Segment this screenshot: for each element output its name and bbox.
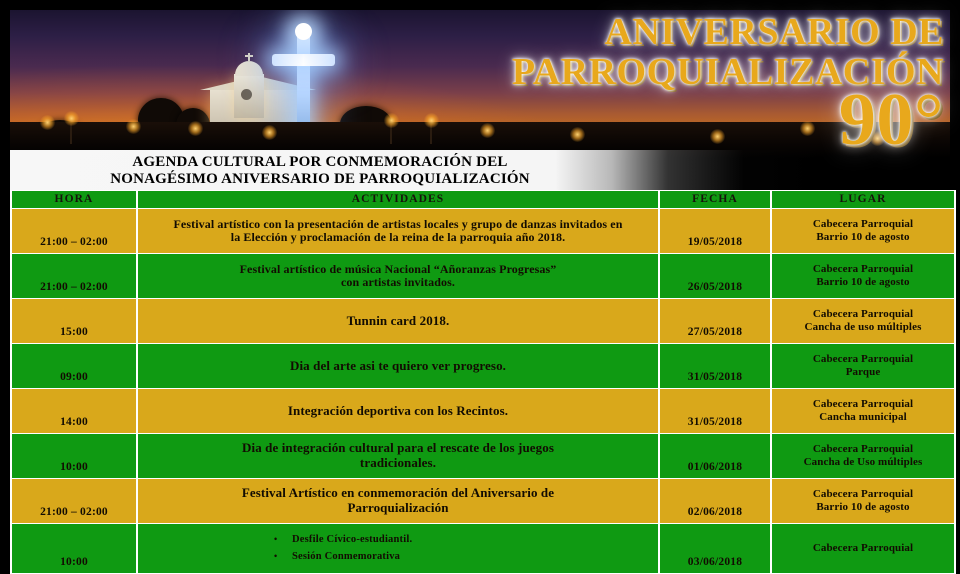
cell-actividad: Festival artístico con la presentación d…: [138, 209, 658, 253]
venue-line: Cabecera Parroquial: [776, 542, 950, 555]
cell-lugar: Cabecera Parroquial: [772, 524, 954, 573]
table-row: 10:00Dia de integración cultural para el…: [12, 434, 954, 478]
activity-line: Festival Artístico en conmemoración del …: [142, 486, 654, 501]
cell-lugar: Cabecera ParroquialBarrio 10 de agosto: [772, 209, 954, 253]
venue-line: Cabecera Parroquial: [776, 398, 950, 411]
activity-line: Tunnin card 2018.: [142, 314, 654, 329]
lamp-glow-icon: [480, 123, 495, 138]
table-row: 21:00 – 02:00Festival artístico con la p…: [12, 209, 954, 253]
cell-fecha: 31/05/2018: [660, 344, 770, 388]
cultural-agenda-table: HORA ACTIVIDADES FECHA LUGAR 21:00 – 02:…: [10, 190, 956, 574]
cell-lugar: Cabecera ParroquialCancha municipal: [772, 389, 954, 433]
table-body: 21:00 – 02:00Festival artístico con la p…: [12, 209, 954, 573]
cell-actividad: Dia de integración cultural para el resc…: [138, 434, 658, 478]
agenda-title-line-2: NONAGÉSIMO ANIVERSARIO DE PARROQUIALIZAC…: [10, 171, 630, 188]
cell-fecha: 31/05/2018: [660, 389, 770, 433]
poster-headline: ANIVERSARIO DE PARROQUIALIZACIÓN 90°: [512, 14, 944, 151]
activity-line: la Elección y proclamación de la reina d…: [142, 231, 654, 244]
agenda-title-band: AGENDA CULTURAL POR CONMEMORACIÓN DEL NO…: [10, 150, 950, 192]
table-row: 21:00 – 02:00Festival artístico de músic…: [12, 254, 954, 298]
activity-line: tradicionales.: [142, 456, 654, 471]
table-row: 14:00Integración deportiva con los Recin…: [12, 389, 954, 433]
activity-bullet-item: Desfile Cívico-estudiantil.: [142, 532, 654, 548]
activity-line: Festival artístico de música Nacional “A…: [142, 263, 654, 276]
headline-line-1: ANIVERSARIO DE: [512, 14, 944, 52]
column-header-lugar: LUGAR: [772, 191, 954, 208]
anniversary-number: 90°: [512, 89, 944, 151]
column-header-fecha: FECHA: [660, 191, 770, 208]
schedule-table-container: HORA ACTIVIDADES FECHA LUGAR 21:00 – 02:…: [10, 190, 950, 528]
table-header-row: HORA ACTIVIDADES FECHA LUGAR: [12, 191, 954, 208]
cell-hora: 10:00: [12, 434, 136, 478]
cell-lugar: Cabecera ParroquialCancha de Uso múltipl…: [772, 434, 954, 478]
venue-line: Cabecera Parroquial: [776, 353, 950, 366]
column-header-hora: HORA: [12, 191, 136, 208]
activity-line: Parroquialización: [142, 501, 654, 516]
event-poster: ANIVERSARIO DE PARROQUIALIZACIÓN 90° AGE…: [0, 0, 960, 540]
page-title: AGENDA CULTURAL POR CONMEMORACIÓN DEL NO…: [10, 154, 630, 189]
cell-actividad: Tunnin card 2018.: [138, 299, 658, 343]
venue-line: Cabecera Parroquial: [776, 308, 950, 321]
lamp-glow-icon: [384, 113, 399, 128]
venue-line: Cancha de uso múltiples: [776, 321, 950, 334]
cell-hora: 21:00 – 02:00: [12, 254, 136, 298]
activity-line: Dia de integración cultural para el resc…: [142, 441, 654, 456]
venue-line: Parque: [776, 366, 950, 379]
cell-hora: 09:00: [12, 344, 136, 388]
column-header-actividades: ACTIVIDADES: [138, 191, 658, 208]
cell-fecha: 27/05/2018: [660, 299, 770, 343]
cell-fecha: 03/06/2018: [660, 524, 770, 573]
cell-actividad: Dia del arte asi te quiero ver progreso.: [138, 344, 658, 388]
cell-hora: 10:00: [12, 524, 136, 573]
activity-line: con artistas invitados.: [142, 276, 654, 289]
venue-line: Barrio 10 de agosto: [776, 231, 950, 244]
street-lamp-icon: [70, 124, 72, 144]
activity-bullet-item: Sesión Conmemorativa: [142, 549, 654, 565]
cell-fecha: 02/06/2018: [660, 479, 770, 523]
venue-line: Cancha de Uso múltiples: [776, 456, 950, 469]
table-row: 09:00Dia del arte asi te quiero ver prog…: [12, 344, 954, 388]
cell-lugar: Cabecera ParroquialParque: [772, 344, 954, 388]
lamp-glow-icon: [126, 119, 141, 134]
activity-line: Integración deportiva con los Recintos.: [142, 404, 654, 419]
table-row: 21:00 – 02:00Festival Artístico en conme…: [12, 479, 954, 523]
venue-line: Barrio 10 de agosto: [776, 501, 950, 514]
cell-lugar: Cabecera ParroquialBarrio 10 de agosto: [772, 254, 954, 298]
lamp-glow-icon: [40, 115, 55, 130]
lamp-glow-icon: [262, 125, 277, 140]
illuminated-cross-arm: [272, 54, 335, 66]
cell-fecha: 26/05/2018: [660, 254, 770, 298]
venue-line: Cabecera Parroquial: [776, 263, 950, 276]
cross-light-orb-icon: [295, 23, 312, 40]
cell-actividad: Festival Artístico en conmemoración del …: [138, 479, 658, 523]
cell-actividad: Festival artístico de música Nacional “A…: [138, 254, 658, 298]
agenda-title-line-1: AGENDA CULTURAL POR CONMEMORACIÓN DEL: [10, 154, 630, 171]
cell-hora: 15:00: [12, 299, 136, 343]
cell-actividad: Integración deportiva con los Recintos.: [138, 389, 658, 433]
venue-line: Cabecera Parroquial: [776, 488, 950, 501]
cell-hora: 14:00: [12, 389, 136, 433]
cell-lugar: Cabecera ParroquialCancha de uso múltipl…: [772, 299, 954, 343]
cell-fecha: 19/05/2018: [660, 209, 770, 253]
cell-hora: 21:00 – 02:00: [12, 209, 136, 253]
cell-actividad: Desfile Cívico-estudiantil.Sesión Conmem…: [138, 524, 658, 573]
steeple-cross-icon: [248, 53, 250, 62]
table-row: 10:00Desfile Cívico-estudiantil.Sesión C…: [12, 524, 954, 573]
lamp-glow-icon: [424, 113, 439, 128]
venue-line: Cabecera Parroquial: [776, 218, 950, 231]
cell-hora: 21:00 – 02:00: [12, 479, 136, 523]
activity-line: Festival artístico con la presentación d…: [142, 218, 654, 231]
belfry-window-icon: [241, 89, 252, 100]
lamp-glow-icon: [188, 121, 203, 136]
table-row: 15:00Tunnin card 2018.27/05/2018Cabecera…: [12, 299, 954, 343]
cell-lugar: Cabecera ParroquialBarrio 10 de agosto: [772, 479, 954, 523]
venue-line: Cabecera Parroquial: [776, 443, 950, 456]
activity-bullet-list: Desfile Cívico-estudiantil.Sesión Conmem…: [142, 532, 654, 565]
activity-line: Dia del arte asi te quiero ver progreso.: [142, 359, 654, 374]
venue-line: Cancha municipal: [776, 411, 950, 424]
lamp-glow-icon: [64, 111, 79, 126]
venue-line: Barrio 10 de agosto: [776, 276, 950, 289]
cell-fecha: 01/06/2018: [660, 434, 770, 478]
